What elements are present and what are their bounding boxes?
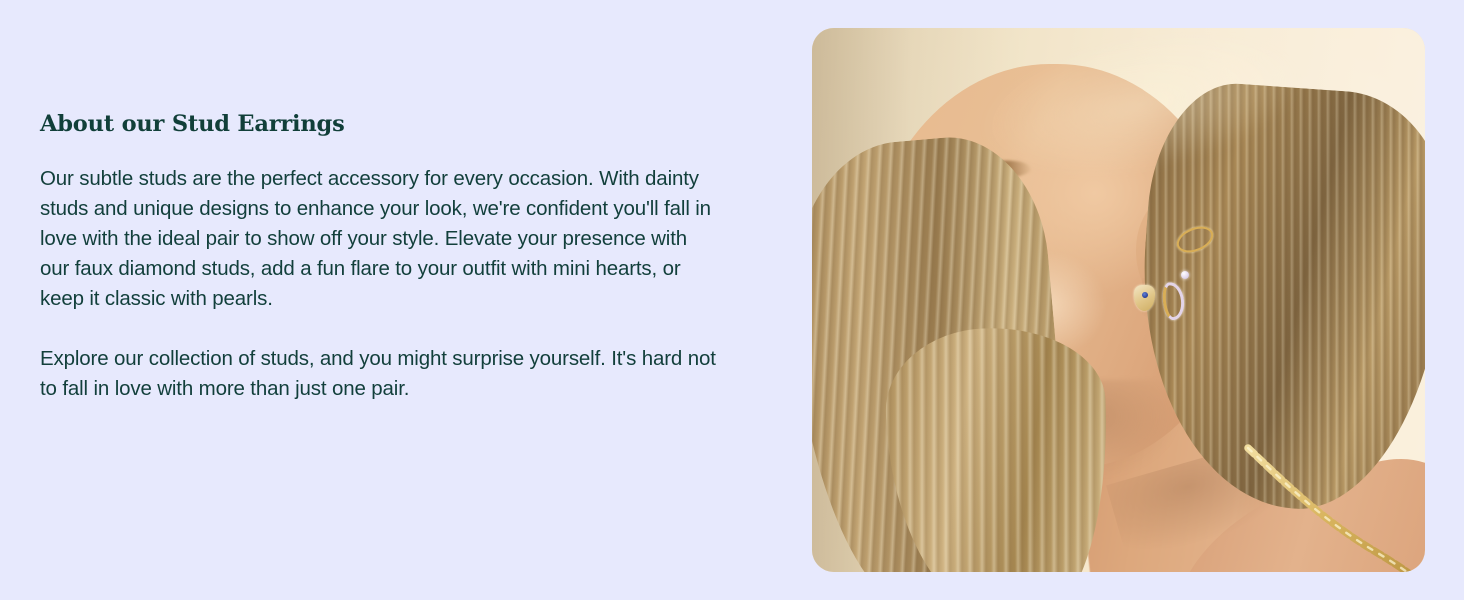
hamsa-blue-stone-icon <box>1142 292 1148 298</box>
text-column: About our Stud Earrings Our subtle studs… <box>40 112 720 404</box>
crystal-stud-icon <box>1181 271 1189 279</box>
model-photo <box>812 28 1425 572</box>
description-paragraph-1: Our subtle studs are the perfect accesso… <box>40 164 720 314</box>
gold-chain-necklace-icon <box>1244 444 1425 572</box>
page-title: About our Stud Earrings <box>40 112 720 138</box>
description-paragraph-2: Explore our collection of studs, and you… <box>40 344 720 404</box>
about-stud-earrings-section: About our Stud Earrings Our subtle studs… <box>0 0 1464 600</box>
hair-waves <box>883 324 1113 572</box>
